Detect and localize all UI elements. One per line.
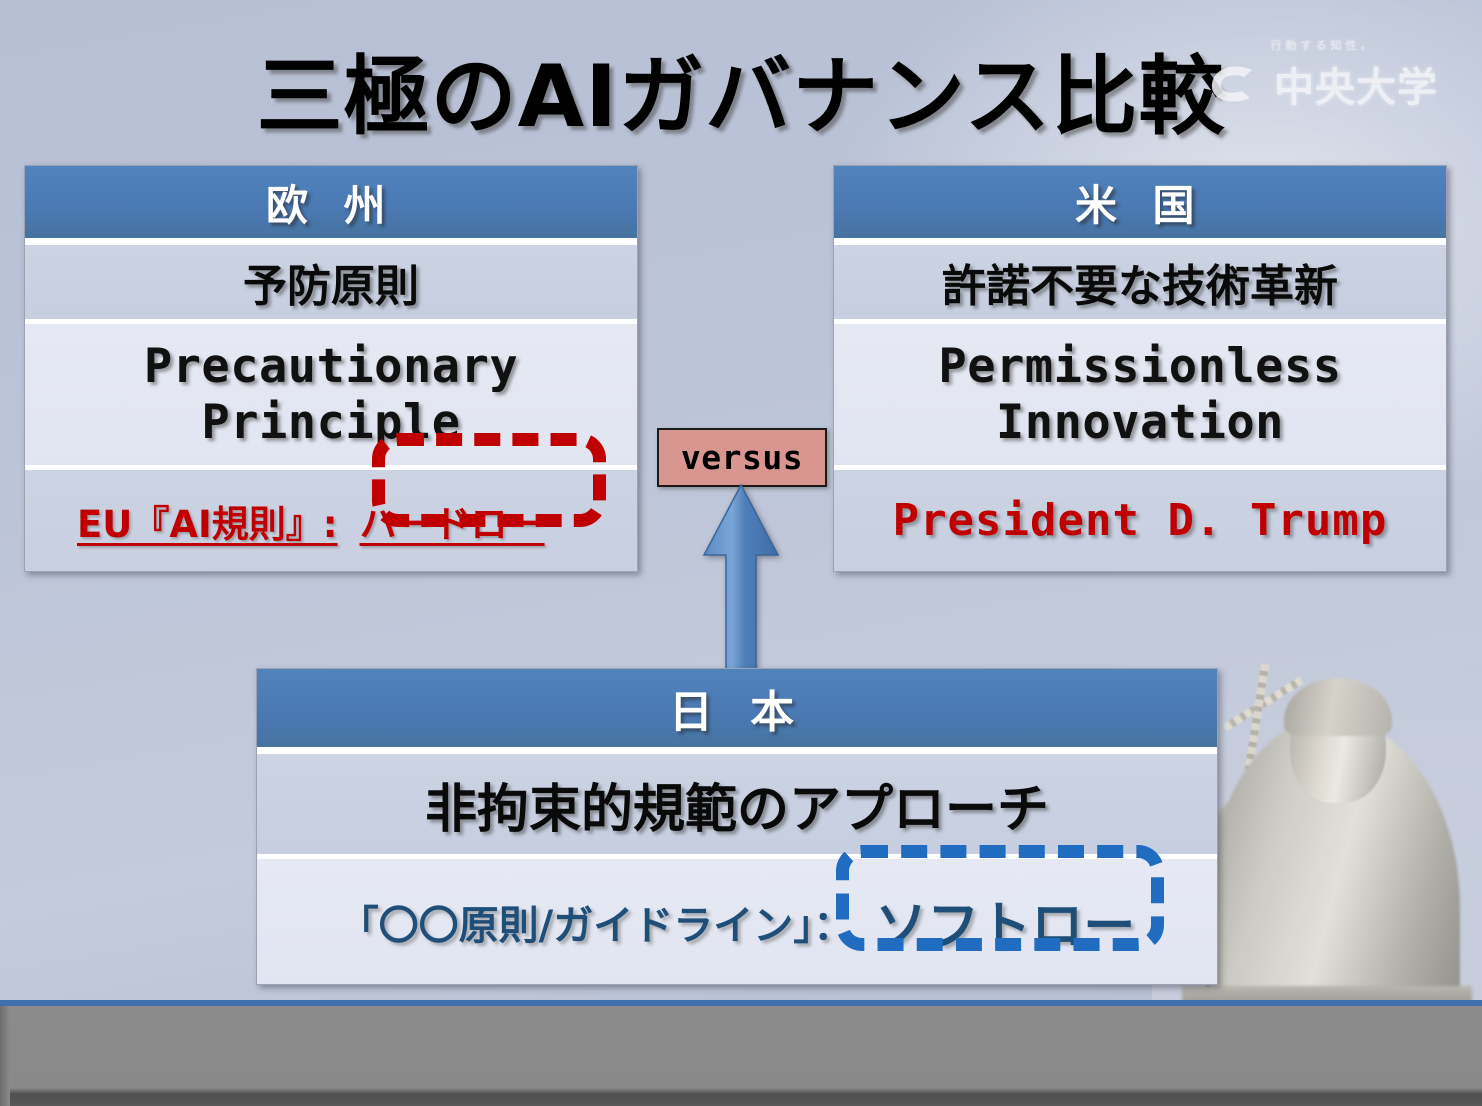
panel-europe-row-3-label: EU『AI規則』:	[77, 494, 338, 548]
slide-canvas: 三極のAIガバナンス比較 行動する知性。 中央大学 欧 州 予防原則 Preca…	[0, 0, 1482, 1106]
panel-europe-sep-1	[25, 238, 637, 245]
panel-europe-row-2: Precautionary Principle	[25, 324, 637, 465]
panel-usa-row-2: Permissionless Innovation	[834, 324, 1446, 465]
panel-usa-row-3-text: President D. Trump	[893, 495, 1388, 546]
panel-usa-row-1-text: 許諾不要な技術革新	[942, 250, 1338, 314]
panel-japan-row-2-label: 「〇〇原則/ガイドライン」：	[339, 893, 854, 951]
panel-europe-row-1-text: 予防原則	[243, 250, 419, 314]
panel-japan-sep-1	[257, 747, 1217, 754]
panel-japan-header: 日 本	[257, 669, 1217, 747]
panel-usa-row-2-text: Permissionless Innovation	[938, 339, 1341, 450]
panel-europe-header: 欧 州	[25, 166, 637, 238]
versus-badge: versus	[657, 428, 827, 487]
panel-europe: 欧 州 予防原則 Precautionary Principle EU『AI規則…	[24, 165, 638, 572]
chuo-c-mark-icon	[1208, 64, 1266, 104]
panel-europe-row-3: EU『AI規則』: ハードロー	[25, 470, 637, 571]
panel-usa-header: 米 国	[834, 166, 1446, 238]
panel-europe-row-1: 予防原則	[25, 245, 637, 319]
panel-usa-row-1: 許諾不要な技術革新	[834, 245, 1446, 319]
panel-japan-highlight-text: ソフトロー	[875, 884, 1135, 959]
panel-usa: 米 国 許諾不要な技術革新 Permissionless Innovation …	[833, 165, 1447, 572]
logo-tagline: 行動する知性。	[1271, 37, 1376, 53]
panel-europe-row-2-text: Precautionary Principle	[144, 339, 518, 450]
panel-japan-row-1-text: 非拘束的規範のアプローチ	[425, 767, 1049, 842]
panel-japan-row-2: 「〇〇原則/ガイドライン」： ソフトロー	[257, 859, 1217, 984]
panel-usa-row-3: President D. Trump	[834, 470, 1446, 571]
logo-name: 中央大学	[1274, 55, 1438, 113]
panel-europe-highlight-text: ハードロー	[360, 494, 545, 548]
university-logo: 行動する知性。 中央大学	[1208, 36, 1438, 114]
panel-usa-sep-1	[834, 238, 1446, 245]
panel-japan-row-1: 非拘束的規範のアプローチ	[257, 754, 1217, 854]
versus-label: versus	[681, 438, 803, 477]
bottom-gray-bar	[0, 1006, 1482, 1106]
logo-lockup: 中央大学	[1208, 55, 1438, 113]
panel-japan: 日 本 非拘束的規範のアプローチ 「〇〇原則/ガイドライン」： ソフトロー	[256, 668, 1218, 985]
up-arrow-icon	[700, 483, 782, 673]
